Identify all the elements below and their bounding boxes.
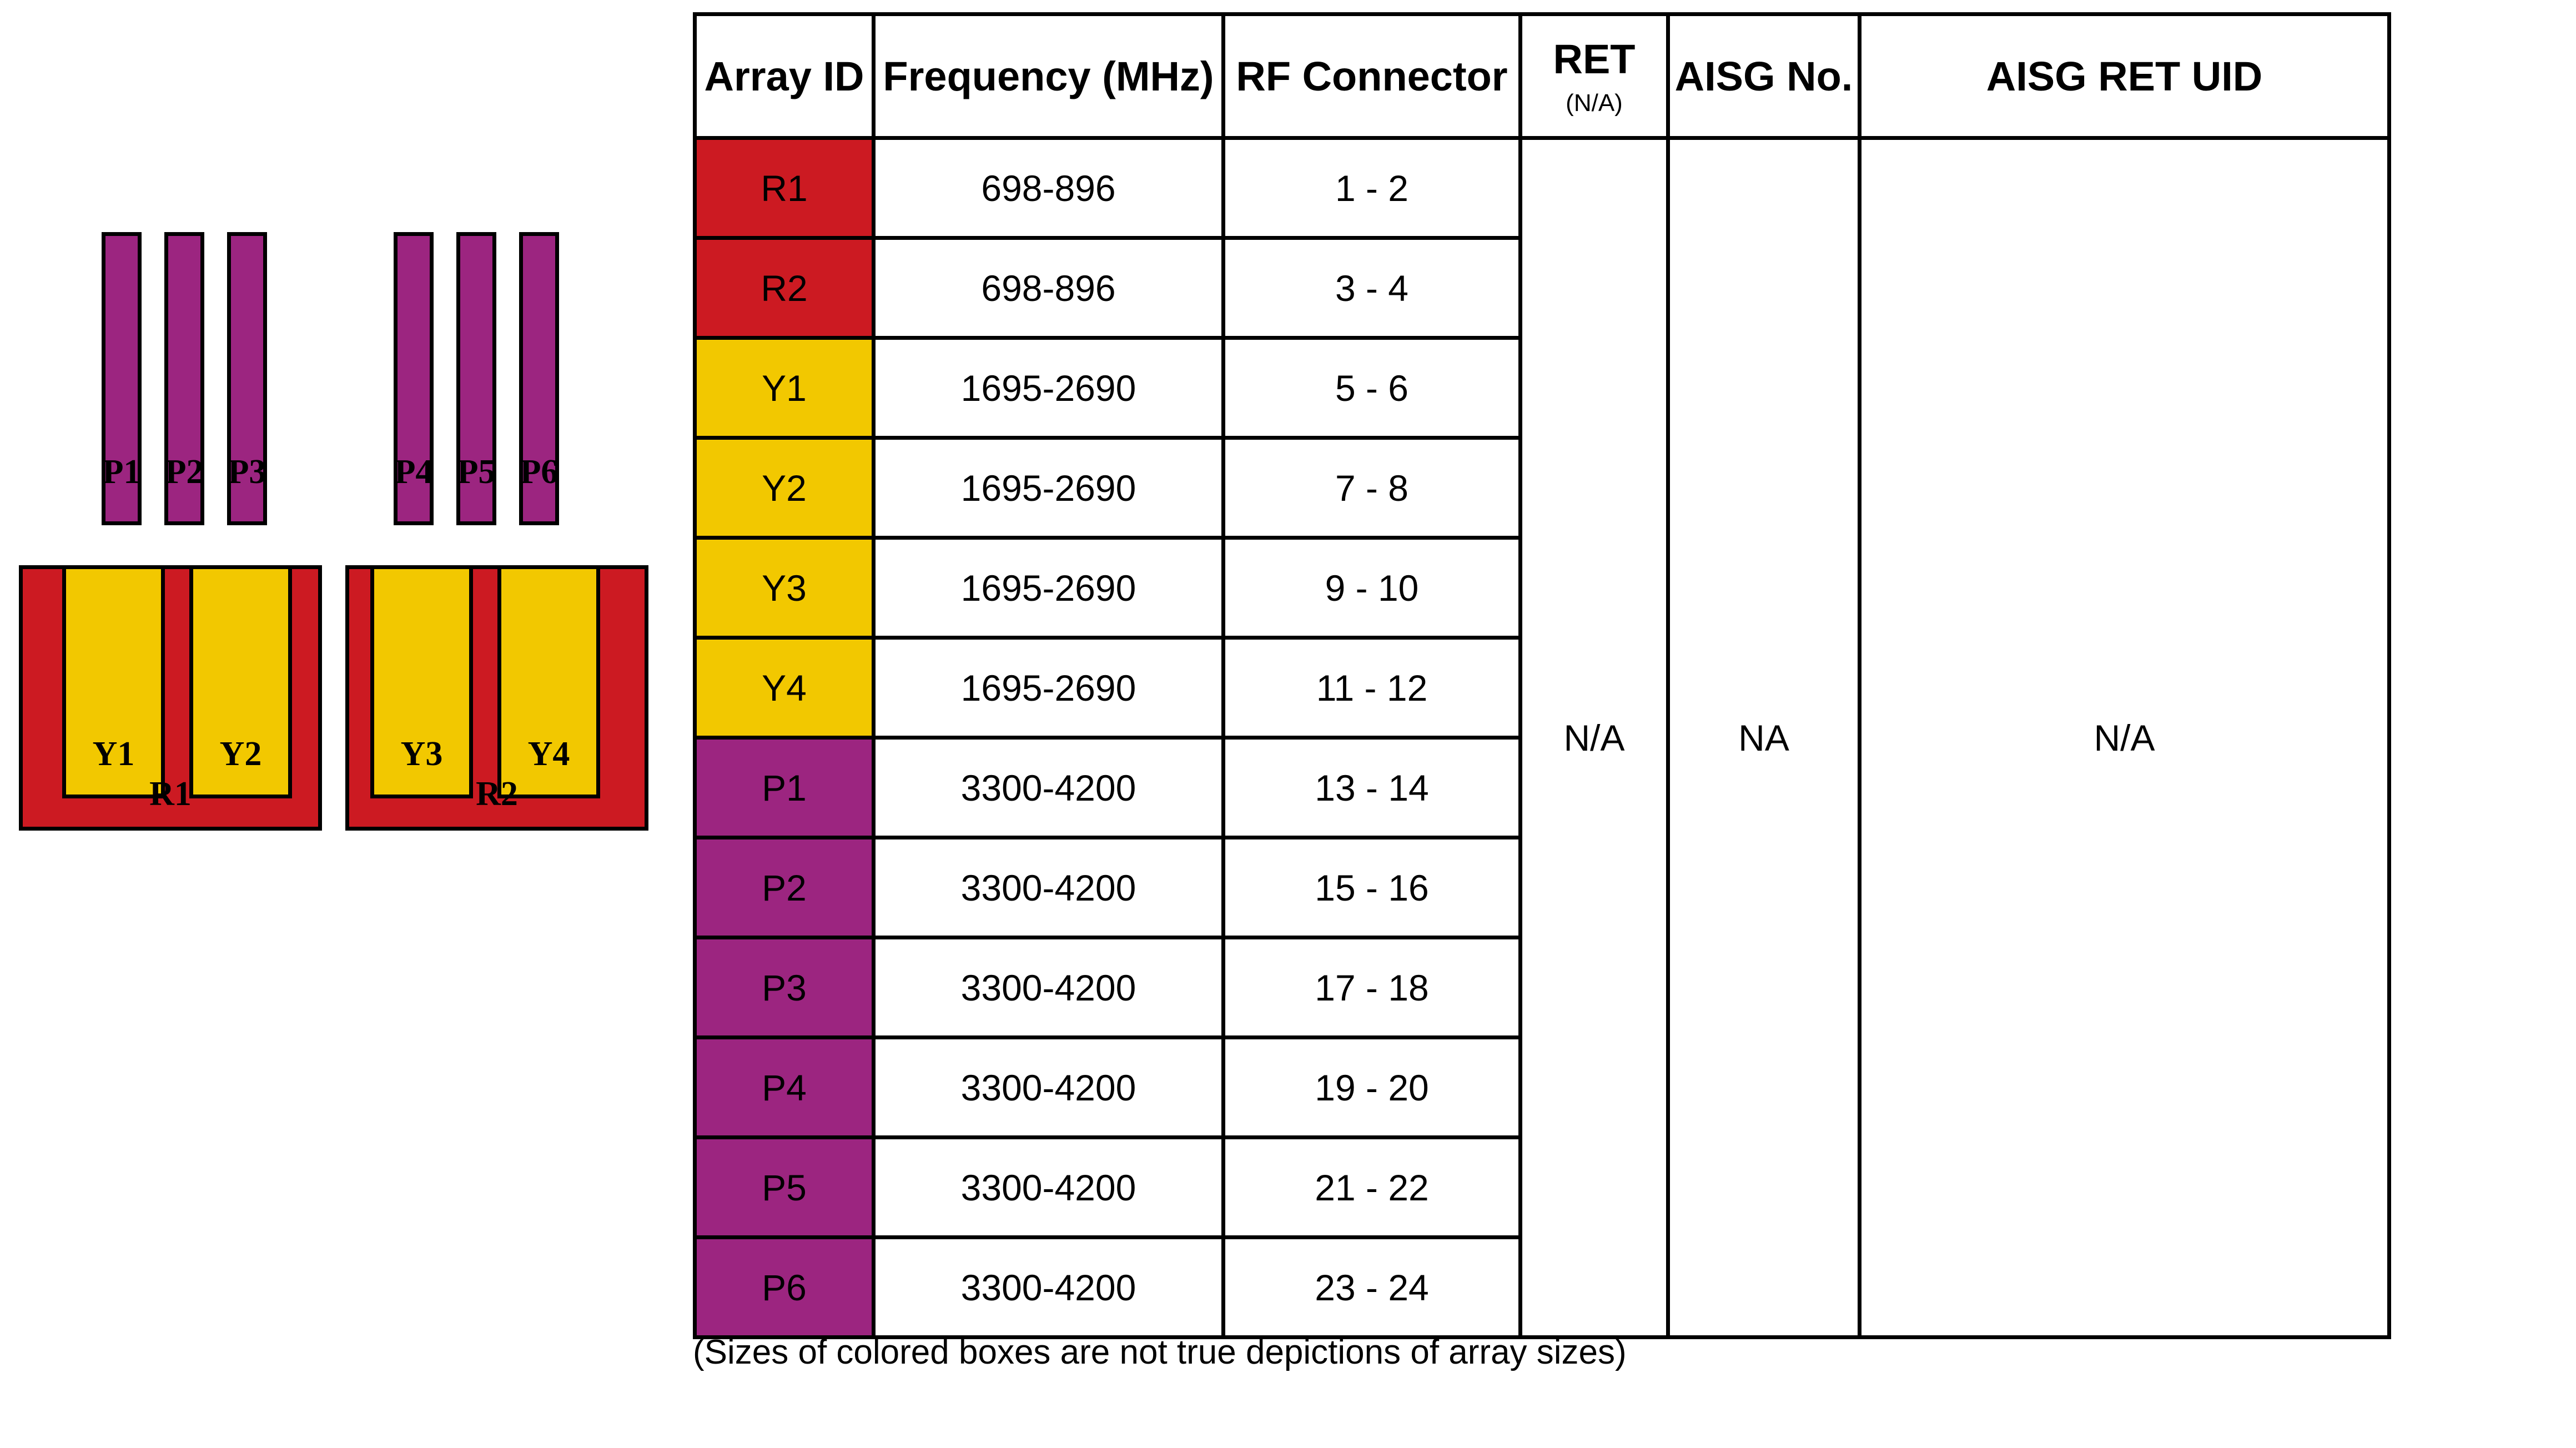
cell-rf-connector: 23 - 24 [1224, 1238, 1521, 1338]
column-header-ret: RET (N/A) [1521, 14, 1668, 138]
column-header-ret-subtitle: (N/A) [1522, 89, 1666, 117]
cell-rf-connector: 7 - 8 [1224, 438, 1521, 538]
array-bar-p3: P3 [227, 232, 267, 525]
cell-array-id: Y3 [695, 538, 874, 638]
array-bar-p4-label: P4 [390, 455, 437, 489]
array-bar-p6: P6 [519, 232, 559, 525]
cell-aisg-no-merged: NA [1668, 138, 1860, 1338]
cell-frequency: 1695-2690 [874, 638, 1224, 738]
array-panel-r1: Y1 Y2 R1 [19, 565, 322, 831]
column-header-aisg-ret-uid: AISG RET UID [1860, 14, 2389, 138]
array-box-y4: Y4 [497, 565, 600, 798]
cell-rf-connector: 3 - 4 [1224, 238, 1521, 338]
cell-array-id: P1 [695, 738, 874, 838]
array-bar-p1: P1 [102, 232, 142, 525]
cell-frequency: 3300-4200 [874, 1038, 1224, 1138]
cell-frequency: 698-896 [874, 138, 1224, 238]
cell-array-id: P5 [695, 1138, 874, 1238]
column-header-ret-title: RET [1553, 36, 1636, 82]
cell-frequency: 1695-2690 [874, 538, 1224, 638]
cell-rf-connector: 9 - 10 [1224, 538, 1521, 638]
array-bar-p5-label: P5 [452, 455, 500, 489]
table-header-row: Array ID Frequency (MHz) RF Connector RE… [695, 14, 2389, 138]
column-header-array-id: Array ID [695, 14, 874, 138]
array-box-y3: Y3 [370, 565, 473, 798]
array-box-y3-label: Y3 [374, 737, 469, 771]
cell-rf-connector: 17 - 18 [1224, 938, 1521, 1038]
cell-rf-connector: 11 - 12 [1224, 638, 1521, 738]
cell-rf-connector: 5 - 6 [1224, 338, 1521, 438]
cell-frequency: 3300-4200 [874, 738, 1224, 838]
cell-frequency: 1695-2690 [874, 438, 1224, 538]
cell-array-id: Y4 [695, 638, 874, 738]
array-bar-p5: P5 [456, 232, 496, 525]
cell-array-id: Y2 [695, 438, 874, 538]
diagram-caption: (Sizes of colored boxes are not true dep… [693, 1333, 2387, 1372]
cell-frequency: 3300-4200 [874, 838, 1224, 938]
array-box-y2-label: Y2 [193, 737, 288, 771]
array-bar-p2: P2 [164, 232, 204, 525]
cell-array-id: P6 [695, 1238, 874, 1338]
column-header-frequency: Frequency (MHz) [874, 14, 1224, 138]
cell-frequency: 3300-4200 [874, 938, 1224, 1038]
cell-rf-connector: 13 - 14 [1224, 738, 1521, 838]
cell-frequency: 3300-4200 [874, 1238, 1224, 1338]
column-header-rf-connector: RF Connector [1224, 14, 1521, 138]
cell-array-id: P3 [695, 938, 874, 1038]
cell-array-id: R2 [695, 238, 874, 338]
cell-rf-connector: 1 - 2 [1224, 138, 1521, 238]
array-specification-table: Array ID Frequency (MHz) RF Connector RE… [693, 12, 2387, 1275]
column-header-aisg-no: AISG No. [1668, 14, 1860, 138]
cell-frequency: 698-896 [874, 238, 1224, 338]
array-bar-p4: P4 [394, 232, 434, 525]
cell-frequency: 3300-4200 [874, 1138, 1224, 1238]
cell-array-id: Y1 [695, 338, 874, 438]
array-panel-r2: Y3 Y4 R2 [345, 565, 648, 831]
array-bar-p6-label: P6 [515, 455, 563, 489]
cell-array-id: P4 [695, 1038, 874, 1138]
antenna-array-diagram: P1 P2 P3 P4 P5 P6 Y1 Y2 R1 Y3 Y4 R2 [0, 0, 688, 1448]
table-row: R1 698-896 1 - 2 N/A NA N/A [695, 138, 2389, 238]
array-bar-p1-label: P1 [98, 455, 145, 489]
cell-array-id: R1 [695, 138, 874, 238]
cell-array-id: P2 [695, 838, 874, 938]
table-body: R1 698-896 1 - 2 N/A NA N/A R2 698-896 3… [695, 138, 2389, 1338]
array-bar-p3-label: P3 [223, 455, 271, 489]
cell-ret-merged: N/A [1521, 138, 1668, 1338]
cell-rf-connector: 19 - 20 [1224, 1038, 1521, 1138]
cell-frequency: 1695-2690 [874, 338, 1224, 438]
array-box-y1: Y1 [62, 565, 165, 798]
array-panel-r2-label: R2 [349, 777, 645, 811]
array-box-y2: Y2 [189, 565, 292, 798]
array-bar-p2-label: P2 [160, 455, 208, 489]
cell-rf-connector: 21 - 22 [1224, 1138, 1521, 1238]
cell-rf-connector: 15 - 16 [1224, 838, 1521, 938]
array-panel-r1-label: R1 [23, 777, 318, 811]
array-box-y1-label: Y1 [66, 737, 161, 771]
array-box-y4-label: Y4 [501, 737, 596, 771]
cell-aisg-ret-uid-merged: N/A [1860, 138, 2389, 1338]
